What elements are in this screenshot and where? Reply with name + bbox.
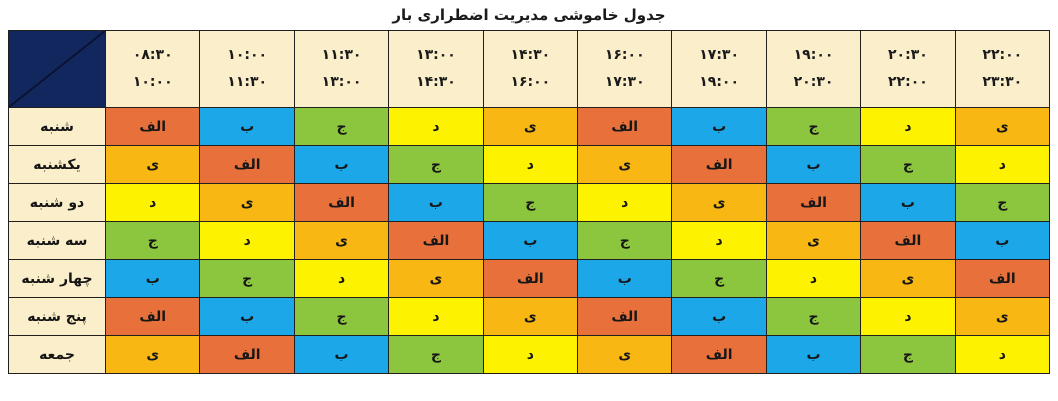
outage-cell: الف [672, 146, 766, 184]
outage-cell: ج [200, 260, 294, 298]
day-label-1: یکشنبه [9, 146, 106, 184]
outage-cell: د [389, 298, 483, 336]
time-slot-end: ۱۶:۰۰ [484, 69, 577, 96]
outage-cell: د [672, 222, 766, 260]
time-slot-header-6: ۱۳:۰۰۱۴:۳۰ [389, 31, 483, 108]
outage-cell: الف [106, 298, 200, 336]
page-title-bar: جدول خاموشی مدیریت اضطراری بار [0, 0, 1058, 30]
outage-cell: الف [294, 184, 388, 222]
outage-cell: ی [766, 222, 860, 260]
outage-cell: ب [294, 146, 388, 184]
time-slot-header-1: ۲۰:۳۰۲۲:۰۰ [861, 31, 955, 108]
outage-cell: الف [672, 336, 766, 374]
table-header: ۲۲:۰۰۲۳:۳۰۲۰:۳۰۲۲:۰۰۱۹:۰۰۲۰:۳۰۱۷:۳۰۱۹:۰۰… [9, 31, 1050, 108]
time-slot-end: ۱۹:۰۰ [672, 69, 765, 96]
outage-cell: الف [955, 260, 1049, 298]
outage-cell: د [483, 146, 577, 184]
time-slot-start: ۲۰:۳۰ [861, 42, 954, 69]
table-row: الفیدجبالفیدجبچهار شنبه [9, 260, 1050, 298]
outage-cell: ب [200, 108, 294, 146]
table-row: جبالفیدجبالفیددو شنبه [9, 184, 1050, 222]
outage-cell: ج [955, 184, 1049, 222]
day-label-6: جمعه [9, 336, 106, 374]
outage-cell: ج [861, 146, 955, 184]
time-slot-header-3: ۱۷:۳۰۱۹:۰۰ [672, 31, 766, 108]
day-label-0: شنبه [9, 108, 106, 146]
outage-cell: الف [389, 222, 483, 260]
corner-cell [9, 31, 106, 108]
outage-cell: د [389, 108, 483, 146]
time-slot-header-8: ۱۰:۰۰۱۱:۳۰ [200, 31, 294, 108]
table-row: دجبالفیدجبالفییکشنبه [9, 146, 1050, 184]
schedule-table-container: ۲۲:۰۰۲۳:۳۰۲۰:۳۰۲۲:۰۰۱۹:۰۰۲۰:۳۰۱۷:۳۰۱۹:۰۰… [0, 30, 1058, 374]
outage-cell: د [955, 336, 1049, 374]
outage-cell: د [200, 222, 294, 260]
outage-schedule-page: جدول خاموشی مدیریت اضطراری بار ۲۲:۰۰۲۳:۳… [0, 0, 1058, 401]
outage-cell: الف [578, 108, 672, 146]
outage-cell: ج [861, 336, 955, 374]
time-slot-end: ۱۱:۳۰ [200, 69, 293, 96]
outage-cell: د [861, 108, 955, 146]
outage-cell: الف [200, 336, 294, 374]
diagonal-divider-icon [9, 31, 105, 107]
page-title: جدول خاموشی مدیریت اضطراری بار [392, 6, 665, 24]
outage-cell: ج [672, 260, 766, 298]
outage-cell: ج [483, 184, 577, 222]
outage-cell: ج [766, 108, 860, 146]
time-slot-end: ۱۷:۳۰ [578, 69, 671, 96]
outage-cell: د [578, 184, 672, 222]
outage-cell: الف [200, 146, 294, 184]
time-slot-start: ۱۶:۰۰ [578, 42, 671, 69]
time-slot-start: ۰۸:۳۰ [106, 42, 199, 69]
outage-cell: ی [578, 336, 672, 374]
time-slot-end: ۱۴:۳۰ [389, 69, 482, 96]
outage-cell: ب [106, 260, 200, 298]
outage-cell: الف [766, 184, 860, 222]
outage-cell: ب [389, 184, 483, 222]
outage-cell: ب [200, 298, 294, 336]
outage-cell: ی [955, 298, 1049, 336]
outage-cell: ی [483, 298, 577, 336]
time-slot-start: ۱۴:۳۰ [484, 42, 577, 69]
time-slot-end: ۱۳:۰۰ [295, 69, 388, 96]
table-row: یدجبالفیدجبالفپنج شنبه [9, 298, 1050, 336]
time-slot-end: ۲۳:۳۰ [956, 69, 1049, 96]
outage-cell: ی [106, 146, 200, 184]
outage-cell: ب [483, 222, 577, 260]
outage-cell: ب [578, 260, 672, 298]
time-slot-start: ۱۷:۳۰ [672, 42, 765, 69]
time-slot-end: ۱۰:۰۰ [106, 69, 199, 96]
time-slot-start: ۱۳:۰۰ [389, 42, 482, 69]
outage-cell: الف [861, 222, 955, 260]
table-row: یدجبالفیدجبالفشنبه [9, 108, 1050, 146]
outage-cell: ی [106, 336, 200, 374]
outage-schedule-table: ۲۲:۰۰۲۳:۳۰۲۰:۳۰۲۲:۰۰۱۹:۰۰۲۰:۳۰۱۷:۳۰۱۹:۰۰… [8, 30, 1050, 374]
time-slot-header-9: ۰۸:۳۰۱۰:۰۰ [106, 31, 200, 108]
outage-cell: ب [294, 336, 388, 374]
outage-cell: ی [389, 260, 483, 298]
outage-cell: ی [672, 184, 766, 222]
outage-cell: ب [766, 146, 860, 184]
time-slot-start: ۱۹:۰۰ [767, 42, 860, 69]
outage-cell: ی [955, 108, 1049, 146]
outage-cell: ب [672, 298, 766, 336]
day-label-5: پنج شنبه [9, 298, 106, 336]
outage-cell: ب [955, 222, 1049, 260]
time-slot-start: ۲۲:۰۰ [956, 42, 1049, 69]
outage-cell: د [106, 184, 200, 222]
outage-cell: د [483, 336, 577, 374]
time-slot-end: ۲۲:۰۰ [861, 69, 954, 96]
outage-cell: ب [861, 184, 955, 222]
outage-cell: د [955, 146, 1049, 184]
time-slot-start: ۱۰:۰۰ [200, 42, 293, 69]
outage-cell: ج [294, 108, 388, 146]
outage-cell: د [294, 260, 388, 298]
outage-cell: ج [766, 298, 860, 336]
outage-cell: ج [106, 222, 200, 260]
time-slot-header-4: ۱۶:۰۰۱۷:۳۰ [578, 31, 672, 108]
time-slot-header-5: ۱۴:۳۰۱۶:۰۰ [483, 31, 577, 108]
table-row: دجبالفیدجبالفیجمعه [9, 336, 1050, 374]
table-body: یدجبالفیدجبالفشنبهدجبالفیدجبالفییکشنبهجب… [9, 108, 1050, 374]
outage-cell: ج [389, 336, 483, 374]
outage-cell: ی [861, 260, 955, 298]
outage-cell: الف [578, 298, 672, 336]
time-slot-start: ۱۱:۳۰ [295, 42, 388, 69]
outage-cell: ج [389, 146, 483, 184]
day-label-3: سه شنبه [9, 222, 106, 260]
outage-cell: الف [483, 260, 577, 298]
day-label-4: چهار شنبه [9, 260, 106, 298]
time-slot-end: ۲۰:۳۰ [767, 69, 860, 96]
time-slot-header-0: ۲۲:۰۰۲۳:۳۰ [955, 31, 1049, 108]
outage-cell: ب [766, 336, 860, 374]
day-label-2: دو شنبه [9, 184, 106, 222]
outage-cell: ب [672, 108, 766, 146]
outage-cell: ی [200, 184, 294, 222]
outage-cell: ج [294, 298, 388, 336]
outage-cell: ج [578, 222, 672, 260]
time-slot-header-7: ۱۱:۳۰۱۳:۰۰ [294, 31, 388, 108]
outage-cell: الف [106, 108, 200, 146]
outage-cell: ی [294, 222, 388, 260]
outage-cell: ی [483, 108, 577, 146]
table-header-row: ۲۲:۰۰۲۳:۳۰۲۰:۳۰۲۲:۰۰۱۹:۰۰۲۰:۳۰۱۷:۳۰۱۹:۰۰… [9, 31, 1050, 108]
outage-cell: ی [578, 146, 672, 184]
outage-cell: د [766, 260, 860, 298]
time-slot-header-2: ۱۹:۰۰۲۰:۳۰ [766, 31, 860, 108]
table-row: بالفیدجبالفیدجسه شنبه [9, 222, 1050, 260]
outage-cell: د [861, 298, 955, 336]
